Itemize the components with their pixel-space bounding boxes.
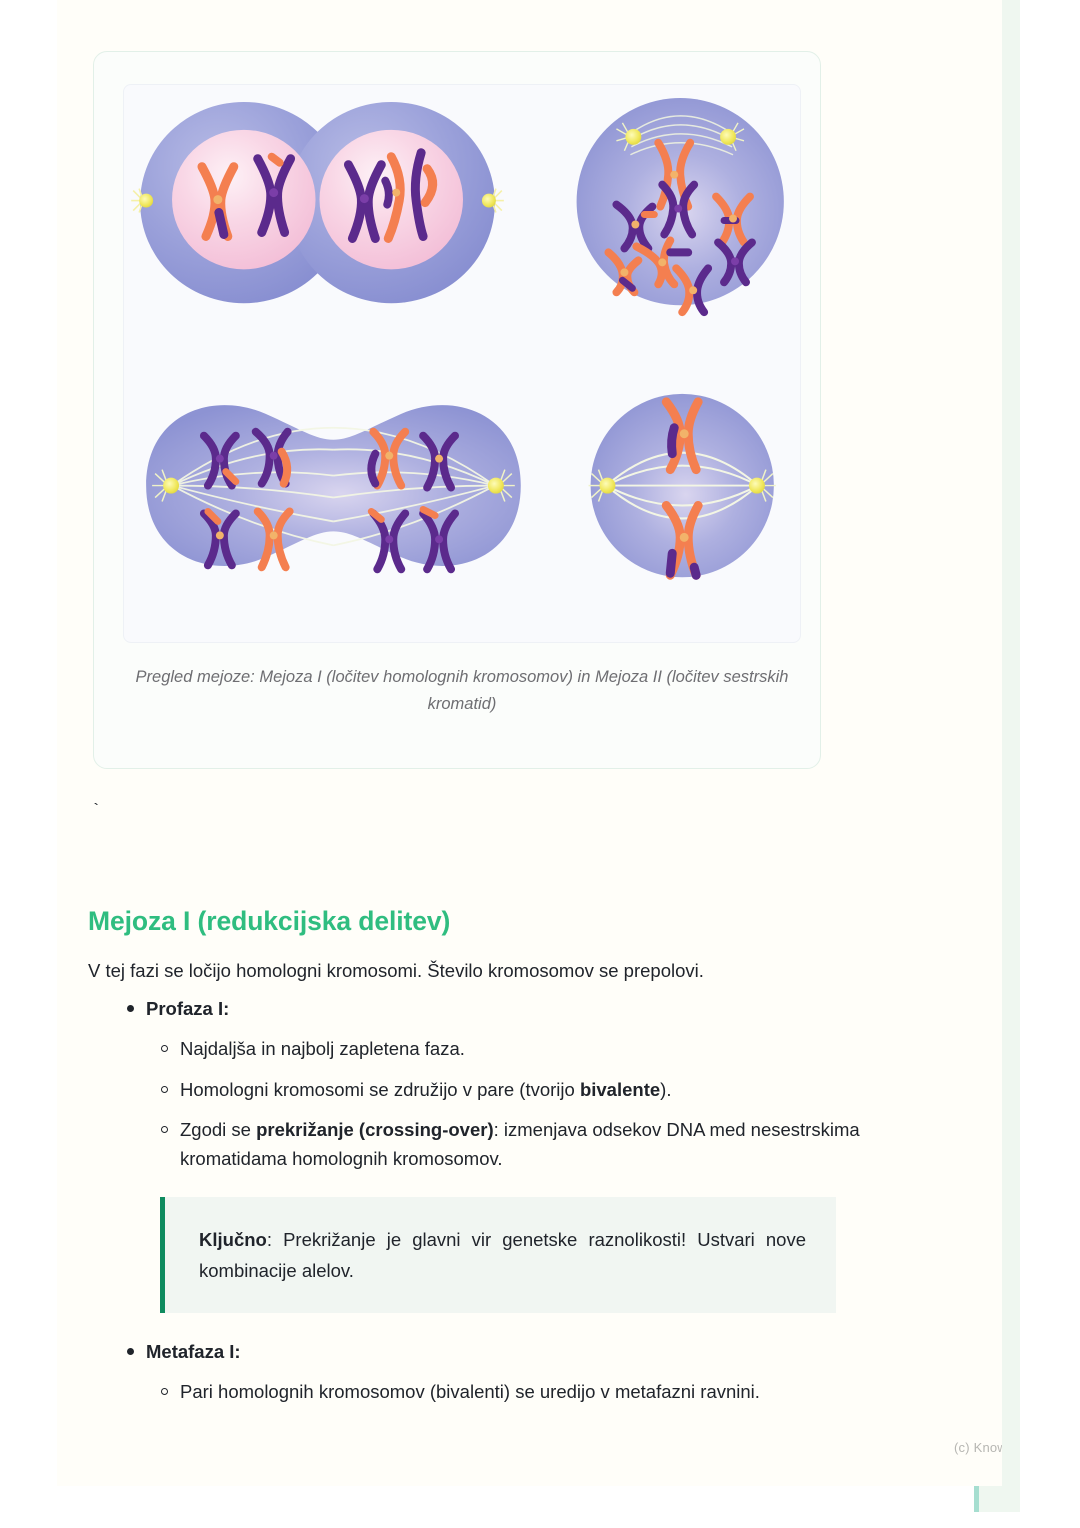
body-text: Najdaljša in najbolj zapletena faza.	[180, 1038, 465, 1059]
figure-caption: Pregled mejoze: Mejoza I (ločitev homolo…	[130, 664, 794, 718]
panel-telophase-i	[131, 102, 504, 303]
body-text: ).	[660, 1079, 671, 1100]
bullet-hollow-icon	[161, 1388, 168, 1395]
document-page: Pregled mejoze: Mejoza I (ločitev homolo…	[57, 0, 1002, 1486]
phase-group: Metafaza I:Pari homolognih kromosomov (b…	[88, 1338, 878, 1407]
bullet-hollow-icon	[161, 1126, 168, 1133]
phase-detail-item: Homologni kromosomi se združijo v pare (…	[88, 1076, 878, 1105]
panel-prophase-i	[577, 98, 784, 312]
section-heading-mejoza-i: Mejoza I (redukcijska delitev)	[88, 906, 450, 937]
callout-text: Ključno: Prekrižanje je glavni vir genet…	[199, 1224, 806, 1286]
phase-detail-item: Najdaljša in najbolj zapletena faza.	[88, 1035, 878, 1064]
bullet-filled-icon	[127, 1348, 134, 1355]
body-text: Pari homolognih kromosomov (bivalenti) s…	[180, 1381, 760, 1402]
meiosis-diagram-svg	[124, 85, 800, 642]
panel-metaphase-i	[589, 394, 776, 577]
emphasis-text: prekrižanje (crossing-over)	[256, 1119, 494, 1140]
phase-group: Profaza I:Najdaljša in najbolj zapletena…	[88, 995, 878, 1338]
body-text: Homologni kromosomi se združijo v pare (…	[180, 1079, 580, 1100]
phase-detail-item: Pari homolognih kromosomov (bivalenti) s…	[88, 1378, 878, 1407]
phase-detail-item: Zgodi se prekrižanje (crossing-over): iz…	[88, 1116, 878, 1173]
stray-backtick-text: `	[91, 802, 101, 821]
bullet-hollow-icon	[161, 1086, 168, 1093]
emphasis-text: Ključno	[199, 1229, 267, 1250]
phase-title-label: Metafaza I:	[146, 1341, 241, 1362]
bullet-hollow-icon	[161, 1045, 168, 1052]
watermark: (c) Knowunity 2025	[954, 1440, 1002, 1455]
meiosis-overview-diagram	[123, 84, 801, 643]
key-point-callout: Ključno: Prekrižanje je glavni vir genet…	[160, 1197, 836, 1313]
phase-list: Profaza I:Najdaljša in najbolj zapletena…	[88, 995, 878, 1407]
body-text: : Prekrižanje je glavni vir genetske raz…	[199, 1229, 806, 1281]
emphasis-text: bivalente	[580, 1079, 660, 1100]
bullet-filled-icon	[127, 1005, 134, 1012]
panel-anaphase-i	[146, 405, 521, 569]
group-spacer	[88, 1313, 878, 1338]
body-text: Zgodi se	[180, 1119, 256, 1140]
lead-paragraph: V tej fazi se ločijo homologni kromosomi…	[88, 957, 848, 985]
phase-title-label: Profaza I:	[146, 998, 229, 1019]
phase-group-title: Profaza I:	[88, 995, 878, 1023]
phase-group-title: Metafaza I:	[88, 1338, 878, 1366]
page-content-area: Pregled mejoze: Mejoza I (ločitev homolo…	[57, 0, 1002, 1486]
figure-card: Pregled mejoze: Mejoza I (ločitev homolo…	[93, 51, 821, 769]
